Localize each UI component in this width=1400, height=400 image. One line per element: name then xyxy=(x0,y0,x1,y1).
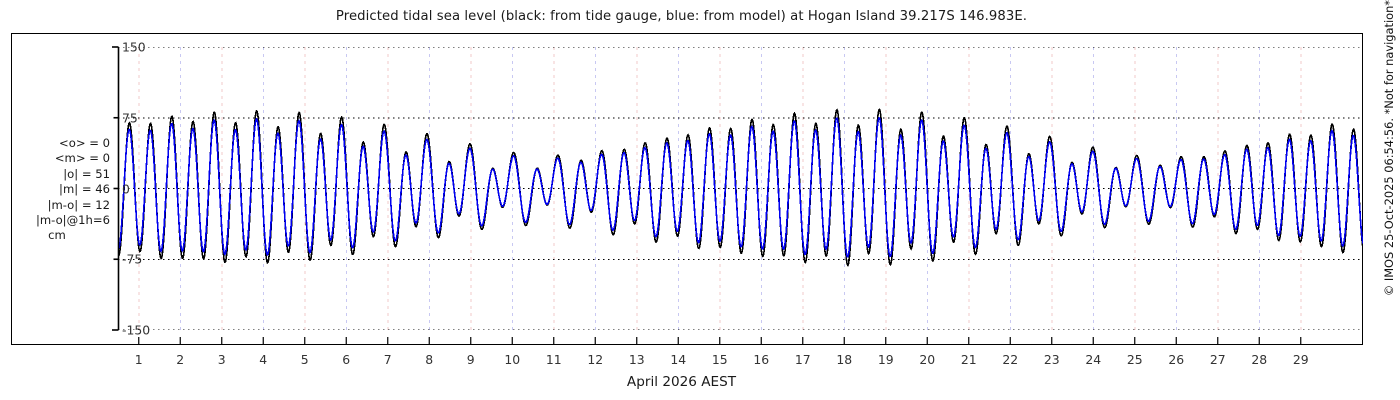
x-tick-marks xyxy=(118,337,1363,345)
x-tick-label: 2 xyxy=(176,352,184,367)
copyright-notice: © IMOS 25-Oct-2025 06:54:56. *Not for na… xyxy=(1378,0,1398,400)
x-tick-label: 1 xyxy=(135,352,143,367)
x-tick-label: 17 xyxy=(795,352,811,367)
x-tick-label: 20 xyxy=(919,352,935,367)
chart-title: Predicted tidal sea level (black: from t… xyxy=(0,9,1363,24)
x-tick-label: 27 xyxy=(1210,352,1226,367)
x-tick-label: 24 xyxy=(1085,352,1101,367)
tidal-chart-figure: Predicted tidal sea level (black: from t… xyxy=(0,0,1400,400)
x-tick-label: 19 xyxy=(878,352,894,367)
x-tick-label: 3 xyxy=(218,352,226,367)
x-tick-label: 29 xyxy=(1293,352,1309,367)
x-tick-label: 6 xyxy=(342,352,350,367)
stat-mean-observed: <o> = 0 xyxy=(18,136,110,151)
stat-rms-difference: |m-o| = 12 xyxy=(18,198,110,213)
stat-mean-model: <m> = 0 xyxy=(18,151,110,166)
x-tick-label: 9 xyxy=(467,352,475,367)
x-tick-label: 8 xyxy=(425,352,433,367)
x-axis-title: April 2026 AEST xyxy=(0,374,1363,390)
x-tick-label: 15 xyxy=(712,352,728,367)
y-tick-label: 75 xyxy=(122,110,138,125)
x-tick-label: 28 xyxy=(1251,352,1267,367)
x-tick-label: 22 xyxy=(1002,352,1018,367)
stat-rms-observed: |o| = 51 xyxy=(18,167,110,182)
x-tick-label: 16 xyxy=(753,352,769,367)
x-tick-label: 25 xyxy=(1127,352,1143,367)
plot-area xyxy=(118,47,1363,330)
stat-unit-label: cm xyxy=(18,228,110,243)
statistics-block: <o> = 0 <m> = 0 |o| = 51 |m| = 46 |m-o| … xyxy=(18,136,110,244)
x-tick-label: 10 xyxy=(504,352,520,367)
x-tick-label: 18 xyxy=(836,352,852,367)
x-tick-label: 7 xyxy=(384,352,392,367)
x-tick-label: 12 xyxy=(587,352,603,367)
copyright-text: © IMOS 25-Oct-2025 06:54:56. *Not for na… xyxy=(1382,0,1396,396)
x-tick-label: 21 xyxy=(961,352,977,367)
y-tick-label: -75 xyxy=(122,252,142,267)
x-tick-label: 26 xyxy=(1168,352,1184,367)
y-tick-label: -150 xyxy=(122,323,150,338)
x-tick-label: 4 xyxy=(259,352,267,367)
x-tick-label: 13 xyxy=(629,352,645,367)
x-tick-label: 5 xyxy=(301,352,309,367)
stat-rms-model: |m| = 46 xyxy=(18,182,110,197)
y-tick-label: 0 xyxy=(122,181,130,196)
tidal-series-plot xyxy=(118,47,1363,330)
stat-rms-difference-1h: |m-o|@1h=6 xyxy=(18,213,110,228)
x-tick-label: 11 xyxy=(546,352,562,367)
y-tick-label: 150 xyxy=(122,40,146,55)
x-tick-label: 14 xyxy=(670,352,686,367)
x-tick-label: 23 xyxy=(1044,352,1060,367)
